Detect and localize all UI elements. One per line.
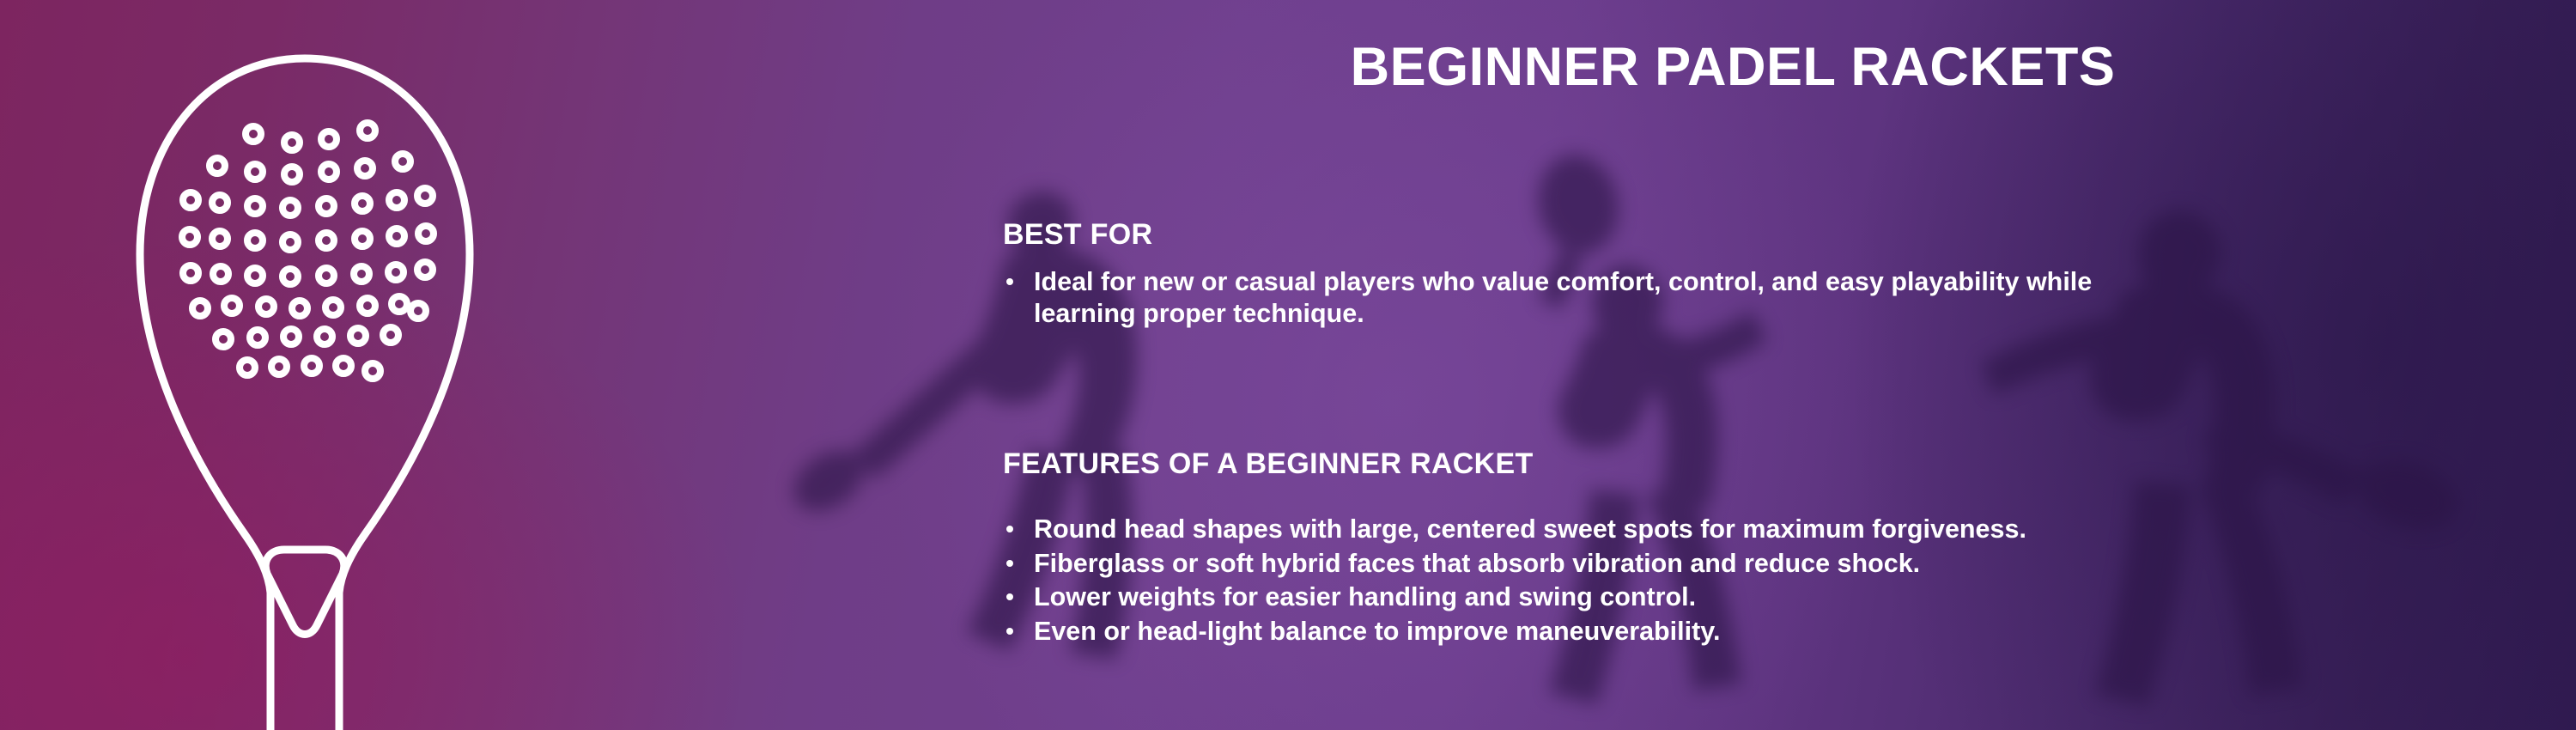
list-item: Ideal for new or casual players who valu… [1003, 266, 2142, 329]
section-heading-features: FEATURES OF A BEGINNER RACKET [1003, 449, 1534, 478]
list-item-label: Round head shapes with large, centered s… [1034, 514, 2026, 544]
padel-racket-illustration [107, 24, 502, 730]
bullet-dot-icon [1006, 278, 1013, 285]
beginner-padel-rackets-banner: BEGINNER PADEL RACKETS BEST FOR Ideal fo… [0, 0, 2576, 730]
bullet-dot-icon [1006, 593, 1013, 600]
page-title: BEGINNER PADEL RACKETS [1003, 40, 2463, 96]
bullet-dot-icon [1006, 628, 1013, 635]
list-item-label: Ideal for new or casual players who valu… [1034, 267, 2092, 328]
racket-face-holes [182, 123, 434, 379]
banner-text-column: BEGINNER PADEL RACKETS BEST FOR Ideal fo… [1003, 0, 2514, 730]
list-item: Fiberglass or soft hybrid faces that abs… [1003, 548, 2463, 580]
best-for-bullet-list: Ideal for new or casual players who valu… [1003, 266, 2463, 332]
list-item: Lower weights for easier handling and sw… [1003, 581, 2463, 613]
bullet-dot-icon [1006, 560, 1013, 567]
features-bullet-list: Round head shapes with large, centered s… [1003, 514, 2463, 649]
list-item: Round head shapes with large, centered s… [1003, 514, 2463, 545]
list-item: Even or head-light balance to improve ma… [1003, 616, 2463, 648]
section-heading-best-for: BEST FOR [1003, 220, 1152, 249]
list-item-label: Fiberglass or soft hybrid faces that abs… [1034, 549, 1920, 578]
bullet-dot-icon [1006, 526, 1013, 532]
list-item-label: Even or head-light balance to improve ma… [1034, 617, 1720, 646]
list-item-label: Lower weights for easier handling and sw… [1034, 582, 1696, 611]
